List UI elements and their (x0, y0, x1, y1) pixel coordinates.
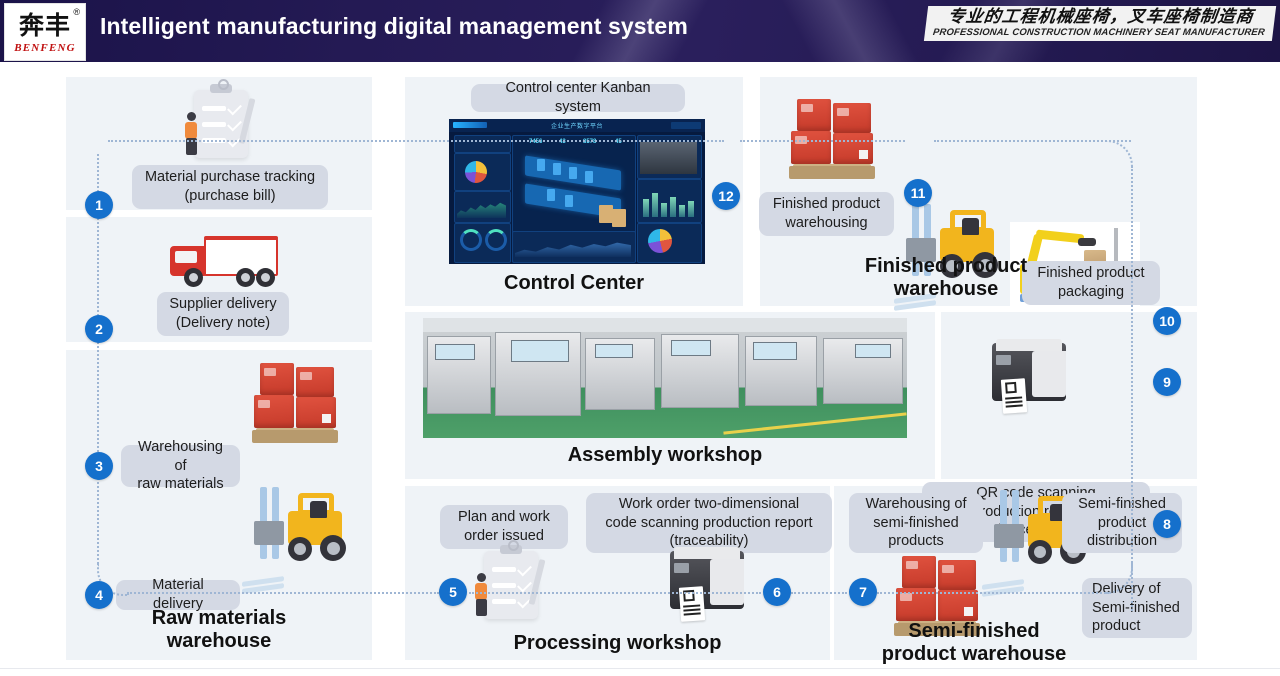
step-badge-2-number: 2 (95, 321, 103, 337)
box-label (300, 372, 312, 380)
logo-chinese-characters: 奔丰 ® (19, 13, 71, 38)
step-badge-11-number: 11 (911, 185, 926, 201)
dashboard-gauge-2 (485, 229, 507, 251)
pill-1-line-2: (purchase bill) (145, 187, 315, 206)
step-badge-10[interactable]: 10 (1153, 307, 1181, 335)
caption-control-center: Control Center (405, 272, 743, 295)
worker-body (185, 122, 197, 139)
diagram-stage: Material purchase tracking (purchase bil… (0, 62, 1280, 676)
step-badge-6-number: 6 (773, 584, 781, 600)
worker-figure (184, 112, 200, 158)
machine-screen-2 (511, 340, 569, 362)
dashboard-iso-carton-2 (612, 209, 626, 227)
pill-13-line-2: Semi-finished (1092, 599, 1180, 618)
dashboard-card-kpi (454, 135, 511, 153)
truck-wheel-rear-2 (256, 268, 275, 287)
connector-6-to-7 (791, 592, 847, 594)
pill-control-center-kanban[interactable]: Control center Kanban system (471, 84, 685, 112)
worker-head (477, 573, 486, 582)
dashboard-bar-1 (643, 199, 649, 217)
pill-10-line-2: packaging (1037, 283, 1144, 302)
clipboard-line-1 (492, 567, 516, 572)
step-badge-3-number: 3 (95, 458, 103, 474)
workshop-floor-marking (723, 412, 906, 434)
box-label (801, 104, 813, 112)
step-badge-12[interactable]: 12 (712, 182, 740, 210)
caption-finished-line-1: Finished product (860, 255, 1032, 278)
pill-12-line-1: Control center Kanban system (481, 79, 675, 116)
caption-raw-line-1: Raw materials (66, 607, 372, 630)
box-qr-code-icon (964, 607, 973, 616)
pill-finished-product-warehousing[interactable]: Finished product warehousing (759, 192, 894, 236)
dashboard-logo (453, 122, 487, 128)
printer-control-panel (674, 563, 689, 573)
connector-7-to-8 (877, 592, 1109, 594)
step-badge-5-number: 5 (449, 584, 457, 600)
forklift-seat (962, 218, 979, 235)
printer-window (710, 559, 744, 605)
dashboard-bar-4 (670, 197, 676, 217)
robot-gripper (1078, 238, 1096, 246)
machine-screen-1 (435, 344, 475, 360)
caption-semi-finished-warehouse: Semi-finished product warehouse (834, 620, 1114, 666)
pill-8-line-3: distribution (1078, 532, 1166, 551)
dashboard-bar-3 (661, 203, 667, 217)
caption-control-center-text: Control Center (504, 272, 644, 294)
label-printer-traceability (982, 339, 1082, 425)
pill-10-line-1: Finished product (1037, 264, 1144, 283)
delivery-truck-illustration (170, 232, 290, 294)
caption-semi-line-1: Semi-finished (834, 620, 1114, 643)
worker-head (187, 112, 196, 121)
box-label (258, 400, 270, 408)
pallet-boxes-raw-materials (248, 359, 344, 443)
label-barcode-line-1 (1005, 396, 1022, 399)
semi-box-top-left (902, 556, 936, 588)
worker-figure (474, 573, 490, 619)
step-badge-8[interactable]: 8 (1153, 510, 1181, 538)
caption-raw-materials-warehouse: Raw materials warehouse (66, 607, 372, 653)
step-badge-10-number: 10 (1159, 313, 1175, 329)
forklift-carriage (994, 524, 1024, 548)
pill-5-line-1: Plan and work (458, 508, 550, 527)
step-badge-3[interactable]: 3 (85, 452, 113, 480)
label-barcode-line-2 (683, 608, 700, 611)
label-barcode-line-2 (1005, 400, 1022, 403)
clipboard-ring (508, 540, 519, 551)
bottom-divider (0, 668, 1280, 669)
label-printer-processing (660, 547, 760, 633)
clipboard-illustration (180, 84, 280, 164)
box-label (900, 593, 912, 601)
clipboard-line-2 (492, 583, 516, 588)
app-header: 奔丰 ® BENFENG Intelligent manufacturing d… (0, 0, 1280, 62)
step-badge-9[interactable]: 9 (1153, 368, 1181, 396)
pill-2-line-2: (Delivery note) (169, 314, 276, 333)
clipboard-line-1 (202, 106, 226, 111)
dashboard-iso-unit-5 (547, 189, 555, 201)
connector-11-to-right (934, 140, 1131, 142)
company-logo: 奔丰 ® BENFENG (4, 3, 86, 61)
pill-supplier-delivery[interactable]: Supplier delivery (Delivery note) (157, 292, 289, 336)
pill-11-line-2: warehousing (773, 214, 880, 233)
workshop-ceiling (423, 318, 907, 332)
step-badge-1[interactable]: 1 (85, 191, 113, 219)
truck-wheel-rear-1 (236, 268, 255, 287)
truck-window (175, 251, 197, 263)
caption-semi-line-2: product warehouse (834, 643, 1114, 666)
connector-right-vertical (1131, 166, 1133, 611)
label-barcode-line-3 (684, 612, 701, 615)
caption-raw-line-2: warehouse (66, 630, 372, 653)
clipboard-ring (218, 79, 229, 90)
pill-1-line-1: Material purchase tracking (145, 168, 315, 187)
step-badge-12-number: 12 (718, 188, 734, 204)
box-label (837, 108, 849, 116)
label-barcode-line-3 (1006, 404, 1023, 407)
pill-7-line-1: Warehousing of (865, 495, 966, 514)
dashboard-iso-unit-4 (585, 171, 593, 183)
dashboard-title: 企业生产数字平台 (551, 121, 603, 130)
label-barcode-line-1 (683, 604, 700, 607)
semi-box-top-right (938, 560, 976, 590)
pill-finished-product-packaging[interactable]: Finished product packaging (1022, 261, 1160, 305)
logo-english-text: BENFENG (14, 42, 76, 54)
step-badge-11[interactable]: 11 (904, 179, 932, 207)
caption-processing-text: Processing workshop (514, 632, 722, 654)
work-order-clipboard-illustration (470, 545, 570, 629)
dashboard-iso-unit-2 (553, 163, 561, 175)
step-badge-4-number: 4 (95, 587, 103, 603)
truck-wheel-front (184, 268, 203, 287)
dashboard-iso-unit-1 (537, 159, 545, 171)
raw-box-top-right (296, 367, 334, 397)
machine-screen-3 (595, 344, 633, 358)
pill-7-line-2: semi-finished (865, 514, 966, 533)
dashboard-camera-feed (640, 142, 697, 174)
pill-3-line-1: Warehousing of (131, 438, 230, 475)
caption-finished-product-warehouse: Finished product warehouse (860, 255, 1032, 301)
pill-11-line-1: Finished product (773, 195, 880, 214)
forklift-raw-materials (248, 487, 358, 592)
pill-7-line-3: products (865, 532, 966, 551)
step-badge-8-number: 8 (1163, 516, 1171, 532)
box-label (264, 368, 276, 376)
box-label (942, 565, 954, 573)
clipboard-line-3 (492, 599, 516, 604)
dashboard-donut-chart-2 (648, 229, 672, 253)
dashboard-bar-2 (652, 193, 658, 217)
printer-window (1032, 351, 1066, 397)
dashboard-iso-carton-1 (599, 205, 613, 223)
pallet-boxes-finished (785, 95, 881, 179)
connector-1-to-12 (108, 140, 724, 142)
tagline-chinese: 专业的工程机械座椅，叉车座椅制造商 (934, 8, 1268, 27)
box-label (906, 561, 918, 569)
pallet-base (252, 430, 338, 443)
worker-legs (476, 599, 487, 616)
caption-assembly-workshop: Assembly workshop (423, 444, 907, 467)
dashboard-iso-unit-6 (565, 195, 573, 207)
step-badge-4[interactable]: 4 (85, 581, 113, 609)
box-qr-code-icon (322, 414, 331, 423)
pill-6-line-1: Work order two-dimensional (605, 495, 812, 514)
caption-finished-line-2: warehouse (860, 278, 1032, 301)
dashboard-donut-chart-1 (465, 161, 487, 183)
printer-top-cover (674, 547, 740, 559)
pill-5-line-2: order issued (458, 527, 550, 546)
machine-screen-4 (671, 340, 711, 356)
step-badge-1-number: 1 (95, 197, 103, 213)
semi-box-bottom-right (938, 590, 978, 621)
logo-cn-text: 奔丰 (19, 11, 71, 40)
dashboard-iso-unit-3 (569, 167, 577, 179)
pill-8-line-1: Semi-finished (1078, 495, 1166, 514)
pill-warehousing-raw-materials[interactable]: Warehousing of raw materials (121, 445, 240, 487)
printer-control-panel (996, 355, 1011, 365)
pill-6-line-2: code scanning production report (605, 514, 812, 533)
forklift-seat (310, 501, 327, 518)
pallet-base (789, 166, 875, 179)
step-badge-6[interactable]: 6 (763, 578, 791, 606)
step-badge-9-number: 9 (1163, 374, 1171, 390)
forklift-wheel-front (288, 537, 312, 561)
registered-trademark-icon: ® (73, 8, 81, 17)
truck-roof-stripe (204, 236, 278, 240)
pill-warehousing-semi-finished[interactable]: Warehousing of semi-finished products (849, 493, 983, 553)
finished-box-bottom-left (791, 131, 831, 164)
forklift-carriage (254, 521, 284, 545)
pill-work-order-2d-code-scanning[interactable]: Work order two-dimensional code scanning… (586, 493, 832, 553)
caption-processing-workshop: Processing workshop (405, 632, 830, 655)
connector-5-to-6 (469, 592, 761, 594)
forklift-wheel-rear (320, 535, 346, 561)
caption-assembly-text: Assembly workshop (568, 444, 763, 466)
finished-box-top-left (797, 99, 831, 131)
step-badge-5[interactable]: 5 (439, 578, 467, 606)
dashboard-gauge-1 (460, 229, 482, 251)
pill-2-line-1: Supplier delivery (169, 295, 276, 314)
step-badge-2[interactable]: 2 (85, 315, 113, 343)
printer-top-cover (996, 339, 1062, 351)
raw-box-bottom-right (296, 397, 336, 428)
label-qr-code-icon (1005, 382, 1017, 394)
step-badge-7-number: 7 (859, 584, 867, 600)
dashboard-status-widget (671, 122, 701, 129)
page-title: Intelligent manufacturing digital manage… (100, 13, 688, 40)
dashboard-bar-6 (688, 201, 694, 217)
dashboard-bar-5 (679, 205, 685, 217)
clipboard-line-2 (202, 122, 226, 127)
pill-material-purchase-tracking[interactable]: Material purchase tracking (purchase bil… (132, 165, 328, 209)
printed-label (1001, 378, 1027, 414)
company-tagline: 专业的工程机械座椅，叉车座椅制造商 PROFESSIONAL CONSTRUCT… (924, 6, 1276, 41)
assembly-workshop-photo (423, 318, 907, 438)
finished-box-top-right (833, 103, 871, 133)
box-qr-code-icon (859, 150, 868, 159)
raw-box-bottom-left (254, 395, 294, 428)
pill-material-delivery[interactable]: Material delivery (116, 580, 240, 610)
machine-screen-6 (855, 344, 891, 358)
tagline-english: PROFESSIONAL CONSTRUCTION MACHINERY SEAT… (932, 27, 1265, 38)
connector-12-to-11 (740, 140, 905, 142)
machine-screen-5 (753, 342, 797, 360)
forklift-wheel-front (1028, 540, 1052, 564)
connector-4-to-5 (127, 592, 439, 594)
step-badge-7[interactable]: 7 (849, 578, 877, 606)
raw-box-top-left (260, 363, 294, 395)
finished-box-bottom-right (833, 133, 873, 164)
pill-plan-and-work-order-issued[interactable]: Plan and work order issued (440, 505, 568, 549)
pill-3-line-2: raw materials (131, 475, 230, 494)
